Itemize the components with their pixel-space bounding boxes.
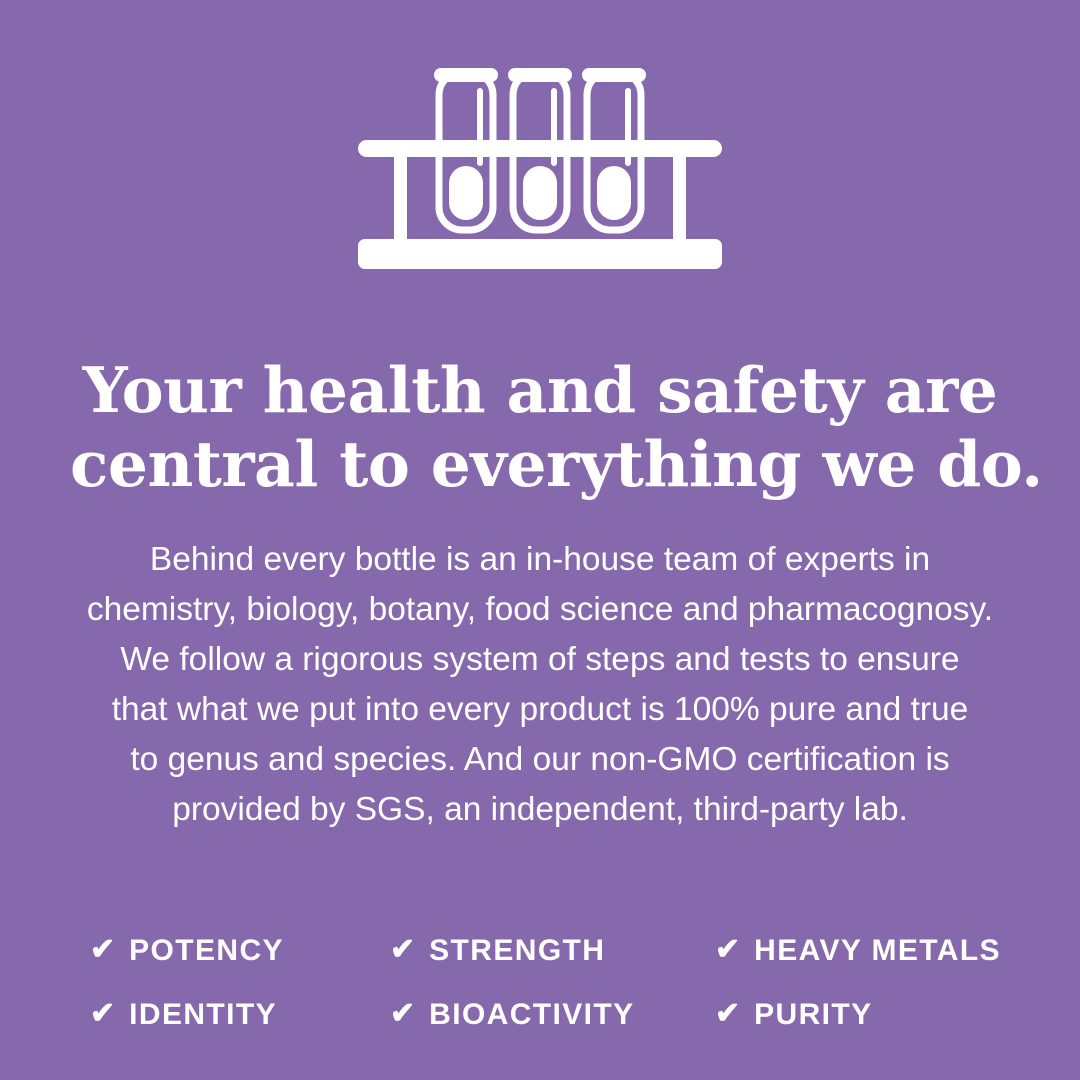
body-paragraph: Behind every bottle is an in-house team … bbox=[60, 535, 1020, 834]
body-line-3: We follow a rigorous system of steps and… bbox=[60, 635, 1020, 685]
body-line-4: that what we put into every product is 1… bbox=[60, 685, 1020, 735]
badge-label: BIOACTIVITY bbox=[429, 998, 634, 1032]
icon-block bbox=[340, 62, 740, 282]
check-icon: ✔ bbox=[390, 935, 415, 965]
badge-potency: ✔ POTENCY bbox=[90, 934, 390, 968]
badge-identity: ✔ IDENTITY bbox=[90, 998, 390, 1032]
body-line-6: provided by SGS, an independent, third-p… bbox=[60, 785, 1020, 835]
page-title: Your health and safety are central to ev… bbox=[70, 354, 1010, 501]
badge-strength: ✔ STRENGTH bbox=[390, 934, 715, 968]
badge-bioactivity: ✔ BIOACTIVITY bbox=[390, 998, 715, 1032]
body-line-2: chemistry, biology, botany, food science… bbox=[60, 585, 1020, 635]
badge-label: STRENGTH bbox=[429, 934, 605, 968]
badge-label: IDENTITY bbox=[129, 998, 277, 1032]
check-icon: ✔ bbox=[715, 999, 740, 1029]
badge-purity: ✔ PURITY bbox=[715, 998, 1000, 1032]
badge-label: HEAVY METALS bbox=[754, 934, 1001, 968]
badge-heavy-metals: ✔ HEAVY METALS bbox=[715, 934, 1000, 968]
body-line-1: Behind every bottle is an in-house team … bbox=[60, 535, 1020, 585]
check-icon: ✔ bbox=[90, 999, 115, 1029]
badge-label: PURITY bbox=[754, 998, 872, 1032]
test-badge-list: ✔ POTENCY ✔ STRENGTH ✔ HEAVY METALS ✔ ID… bbox=[90, 919, 1000, 1047]
check-icon: ✔ bbox=[390, 999, 415, 1029]
check-icon: ✔ bbox=[90, 935, 115, 965]
badge-label: POTENCY bbox=[129, 934, 284, 968]
test-tube-rack-icon bbox=[355, 62, 725, 272]
check-icon: ✔ bbox=[715, 935, 740, 965]
headline-line-2: central to everything we do. bbox=[70, 428, 1010, 502]
headline-line-1: Your health and safety are bbox=[70, 354, 1010, 428]
body-line-5: to genus and species. And our non-GMO ce… bbox=[60, 735, 1020, 785]
